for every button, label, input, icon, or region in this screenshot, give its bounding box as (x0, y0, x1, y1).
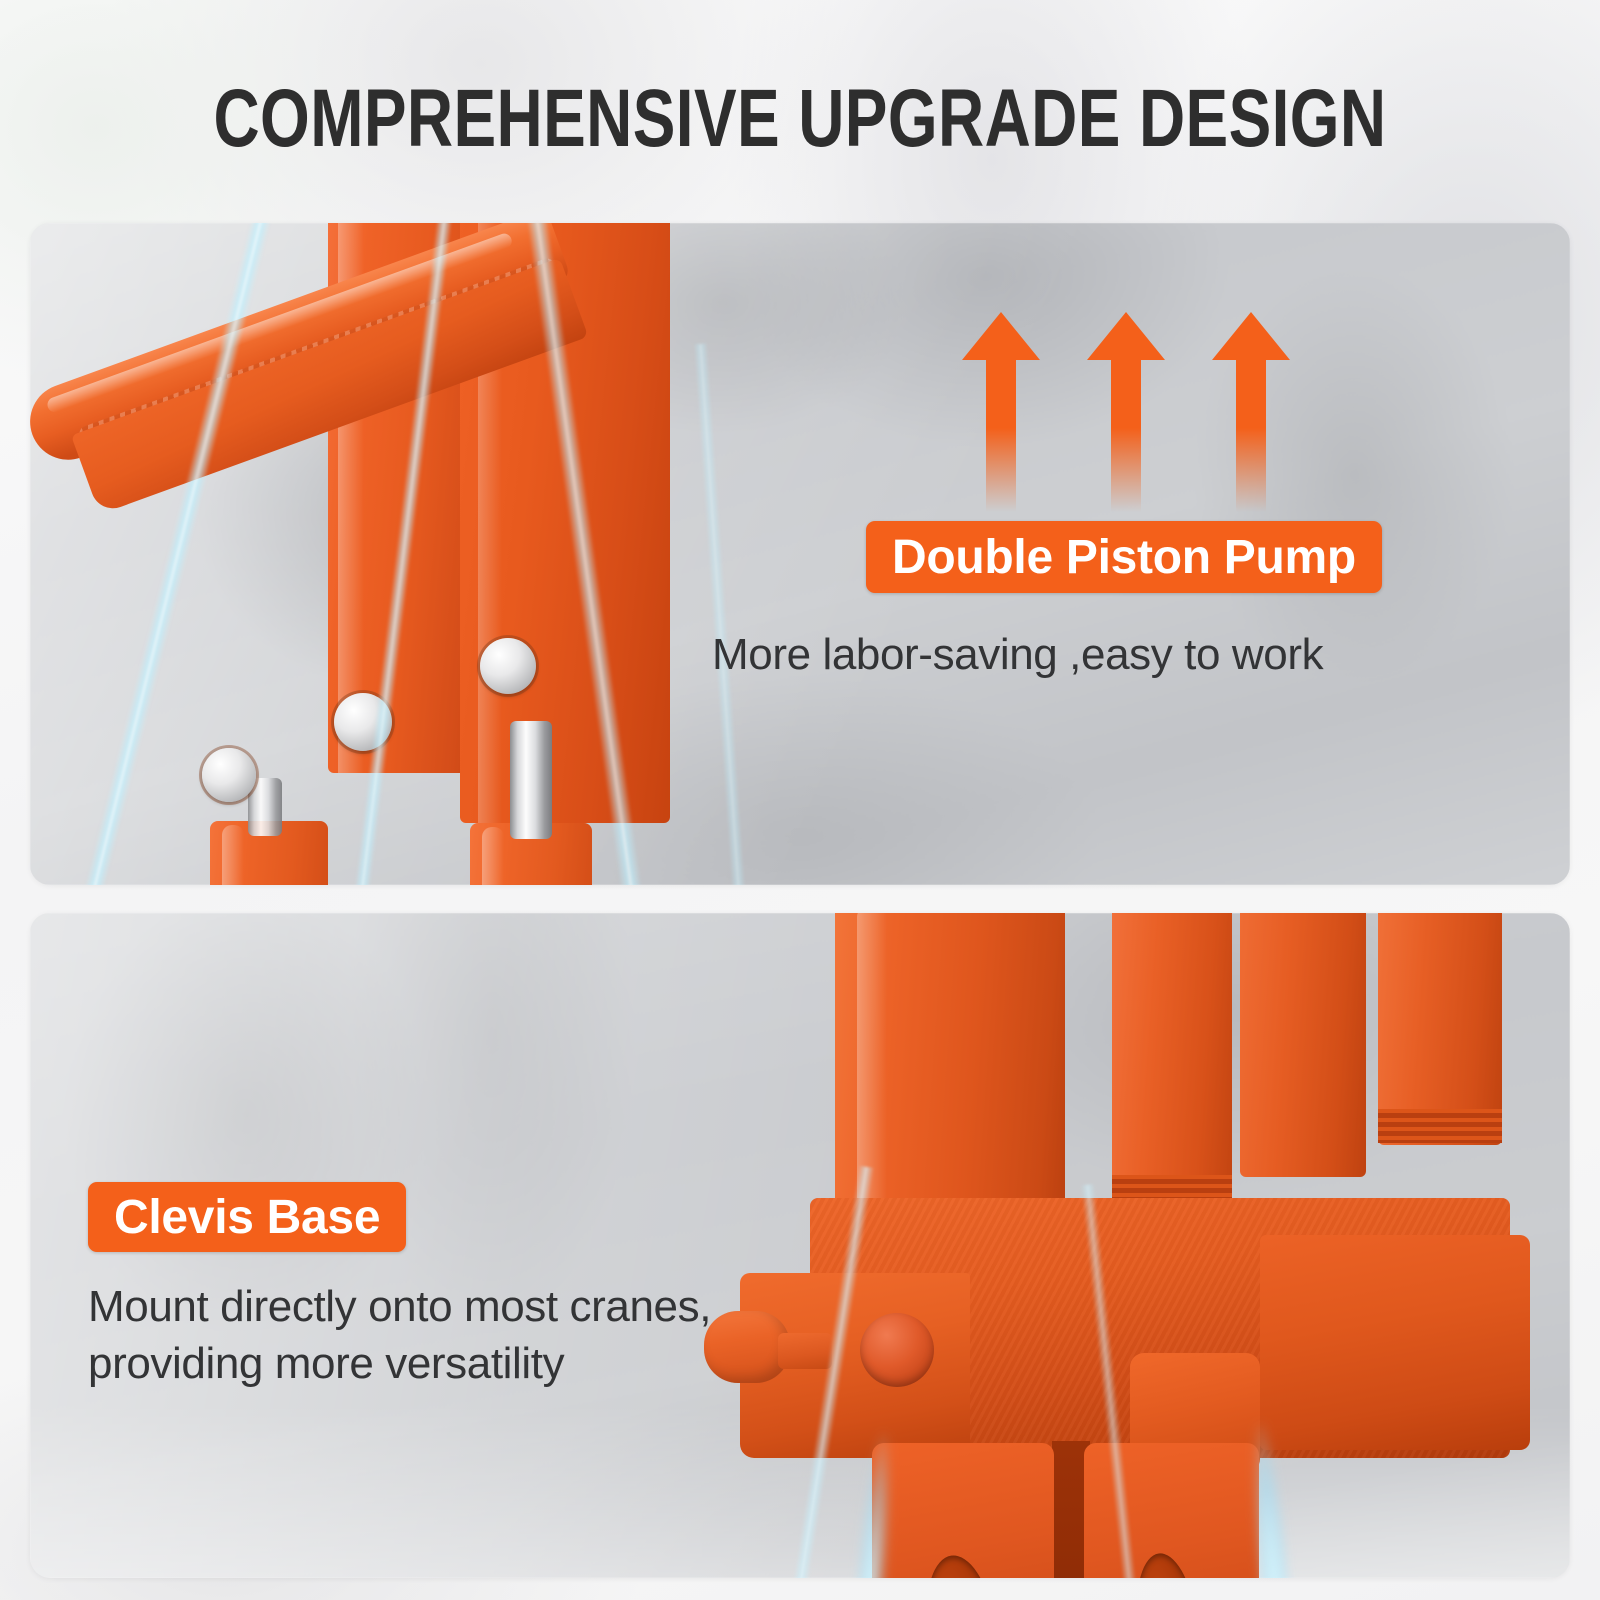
feature-badge-clevis-base: Clevis Base (88, 1182, 406, 1252)
triple-up-arrow-icon (962, 312, 1292, 512)
up-arrow-icon (1087, 312, 1165, 512)
steel-pin-icon (480, 638, 536, 694)
ram-column (835, 913, 1065, 1237)
feature-description-clevis-base: Mount directly onto most cranes, providi… (88, 1278, 868, 1392)
product-photo-clevis-base (660, 913, 1570, 1578)
page-title: COMPREHENSIVE UPGRADE DESIGN (176, 78, 1424, 160)
threaded-collar (1378, 1109, 1502, 1143)
product-photo-pump-mechanism (30, 223, 790, 885)
up-arrow-icon (962, 312, 1040, 512)
light-flare (694, 343, 761, 885)
feature-badge-double-piston-pump: Double Piston Pump (866, 521, 1382, 593)
up-arrow-icon (1212, 312, 1290, 512)
steel-pin-icon (334, 693, 392, 751)
cast-base-right-block (1260, 1235, 1530, 1450)
oil-filler-plug (860, 1313, 934, 1387)
pump-cylinder (1112, 913, 1232, 1207)
piston-rod-right (510, 721, 552, 839)
feature-description-double-piston-pump: More labor-saving ,easy to work (712, 630, 1323, 680)
steel-pin-icon (202, 748, 256, 802)
pump-cylinder (1240, 913, 1366, 1177)
